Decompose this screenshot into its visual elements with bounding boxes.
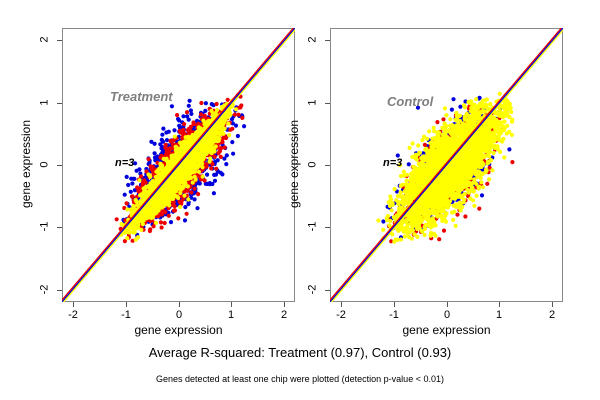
- y-tick-mark: [57, 165, 62, 166]
- x-tick-label: 0: [167, 310, 191, 321]
- scatter-plot-treatment: [62, 28, 295, 302]
- y-tick-label: 2: [308, 31, 319, 49]
- y-tick-mark: [325, 40, 330, 41]
- y-tick-label: -2: [308, 281, 319, 299]
- x-tick-label: 2: [540, 310, 564, 321]
- x-tick-label: 1: [219, 310, 243, 321]
- x-tick-mark: [231, 302, 232, 307]
- y-tick-mark: [325, 290, 330, 291]
- y-tick-mark: [57, 290, 62, 291]
- plot-panel-control: Control n=3: [330, 28, 563, 302]
- y-tick-label: 1: [308, 94, 319, 112]
- y-tick-mark: [57, 103, 62, 104]
- y-tick-label: 2: [40, 31, 51, 49]
- y-tick-label: -1: [308, 218, 319, 236]
- caption-detection-note: Genes detected at least one chip were pl…: [0, 375, 600, 384]
- y-tick-mark: [325, 103, 330, 104]
- y-axis-title: gene expression: [288, 94, 300, 234]
- plot-panel-treatment: Treatment n=3: [62, 28, 295, 302]
- x-tick-mark: [179, 302, 180, 307]
- scatter-plot-control: [330, 28, 563, 302]
- x-tick-label: -1: [382, 310, 406, 321]
- caption-average-r-squared: Average R-squared: Treatment (0.97), Con…: [0, 346, 600, 359]
- panel-title-treatment: Treatment: [110, 90, 173, 103]
- y-tick-label: 0: [40, 156, 51, 174]
- x-tick-mark: [394, 302, 395, 307]
- y-tick-mark: [57, 227, 62, 228]
- x-tick-label: -2: [329, 310, 353, 321]
- x-axis-title: gene expression: [330, 324, 563, 336]
- x-tick-label: -1: [114, 310, 138, 321]
- x-tick-mark: [447, 302, 448, 307]
- sample-size-label-treatment: n=3: [115, 158, 134, 169]
- x-axis-title: gene expression: [62, 324, 295, 336]
- x-tick-label: -2: [61, 310, 85, 321]
- figure-canvas: Treatment n=3 Control n=3 -2-1012-2-1012…: [0, 0, 600, 400]
- y-tick-mark: [325, 227, 330, 228]
- panel-title-control: Control: [387, 95, 433, 108]
- x-tick-mark: [341, 302, 342, 307]
- x-tick-mark: [284, 302, 285, 307]
- y-tick-label: -1: [40, 218, 51, 236]
- y-tick-mark: [57, 40, 62, 41]
- y-tick-mark: [325, 165, 330, 166]
- y-tick-label: 1: [40, 94, 51, 112]
- x-tick-mark: [499, 302, 500, 307]
- x-tick-mark: [73, 302, 74, 307]
- x-tick-label: 2: [272, 310, 296, 321]
- x-tick-label: 0: [435, 310, 459, 321]
- y-tick-label: 0: [308, 156, 319, 174]
- x-tick-mark: [552, 302, 553, 307]
- x-tick-label: 1: [487, 310, 511, 321]
- y-tick-label: -2: [40, 281, 51, 299]
- sample-size-label-control: n=3: [383, 158, 402, 169]
- y-axis-title: gene expression: [20, 94, 32, 234]
- x-tick-mark: [126, 302, 127, 307]
